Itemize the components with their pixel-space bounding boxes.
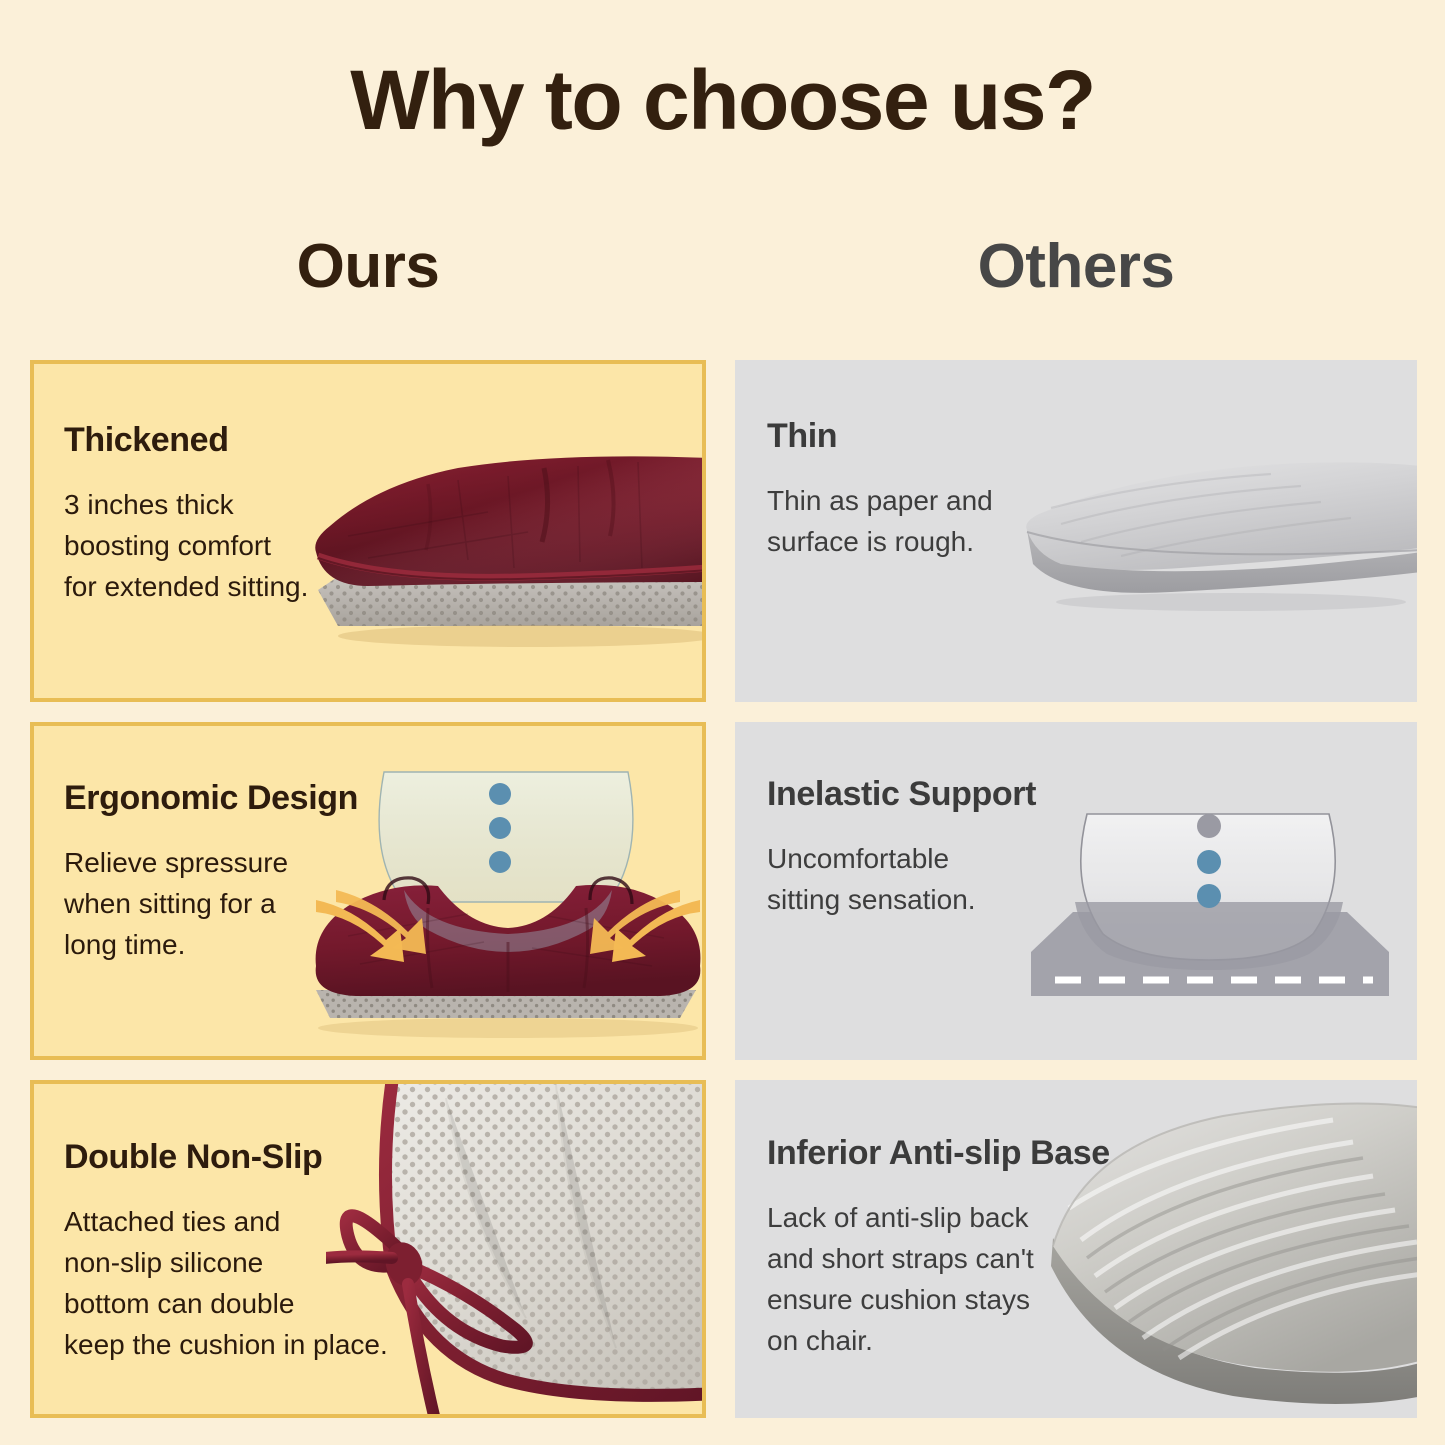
card-text-ours-ergonomic-design: Ergonomic Design Relieve spressure when … <box>64 780 358 966</box>
card-ours-double-non-slip: Double Non-Slip Attached ties and non-sl… <box>30 1080 706 1418</box>
column-heading-ours: Ours <box>30 234 706 299</box>
card-others-thin: Thin Thin as paper and surface is rough. <box>735 360 1417 702</box>
card-title: Thickened <box>64 422 308 459</box>
card-title: Thin <box>767 418 993 455</box>
card-description: Lack of anti-slip back and short straps … <box>767 1198 1110 1362</box>
card-title: Inelastic Support <box>767 776 1036 813</box>
infographic-page: Why to choose us? Ours Others <box>0 0 1445 1445</box>
card-title: Inferior Anti-slip Base <box>767 1135 1110 1172</box>
ergonomic-red-cushion-diagram <box>308 766 706 1046</box>
card-text-others-thin: Thin Thin as paper and surface is rough. <box>767 418 993 563</box>
card-description: 3 inches thick boosting comfort for exte… <box>64 485 308 608</box>
card-title: Ergonomic Design <box>64 780 358 817</box>
column-heading-others: Others <box>735 234 1417 299</box>
inelastic-gray-cushion-diagram <box>1025 784 1395 1034</box>
card-title: Double Non-Slip <box>64 1139 388 1176</box>
card-description: Uncomfortable sitting sensation. <box>767 839 1036 921</box>
card-ours-ergonomic-design: Ergonomic Design Relieve spressure when … <box>30 722 706 1060</box>
thin-gray-cushion-photo <box>1021 452 1417 642</box>
card-text-others-inferior-anti-slip-base: Inferior Anti-slip Base Lack of anti-sli… <box>767 1135 1110 1362</box>
card-others-inelastic-support: Inelastic Support Uncomfortable sitting … <box>735 722 1417 1060</box>
card-description: Attached ties and non-slip silicone bott… <box>64 1202 388 1366</box>
card-others-inferior-anti-slip-base: Inferior Anti-slip Base Lack of anti-sli… <box>735 1080 1417 1418</box>
page-title: Why to choose us? <box>0 56 1445 144</box>
card-text-others-inelastic-support: Inelastic Support Uncomfortable sitting … <box>767 776 1036 921</box>
card-description: Thin as paper and surface is rough. <box>767 481 993 563</box>
card-text-ours-double-non-slip: Double Non-Slip Attached ties and non-sl… <box>64 1139 388 1366</box>
card-text-ours-thickened: Thickened 3 inches thick boosting comfor… <box>64 422 308 608</box>
thick-red-cushion-photo <box>308 440 706 670</box>
card-ours-thickened: Thickened 3 inches thick boosting comfor… <box>30 360 706 702</box>
card-description: Relieve spressure when sitting for a lon… <box>64 843 358 966</box>
